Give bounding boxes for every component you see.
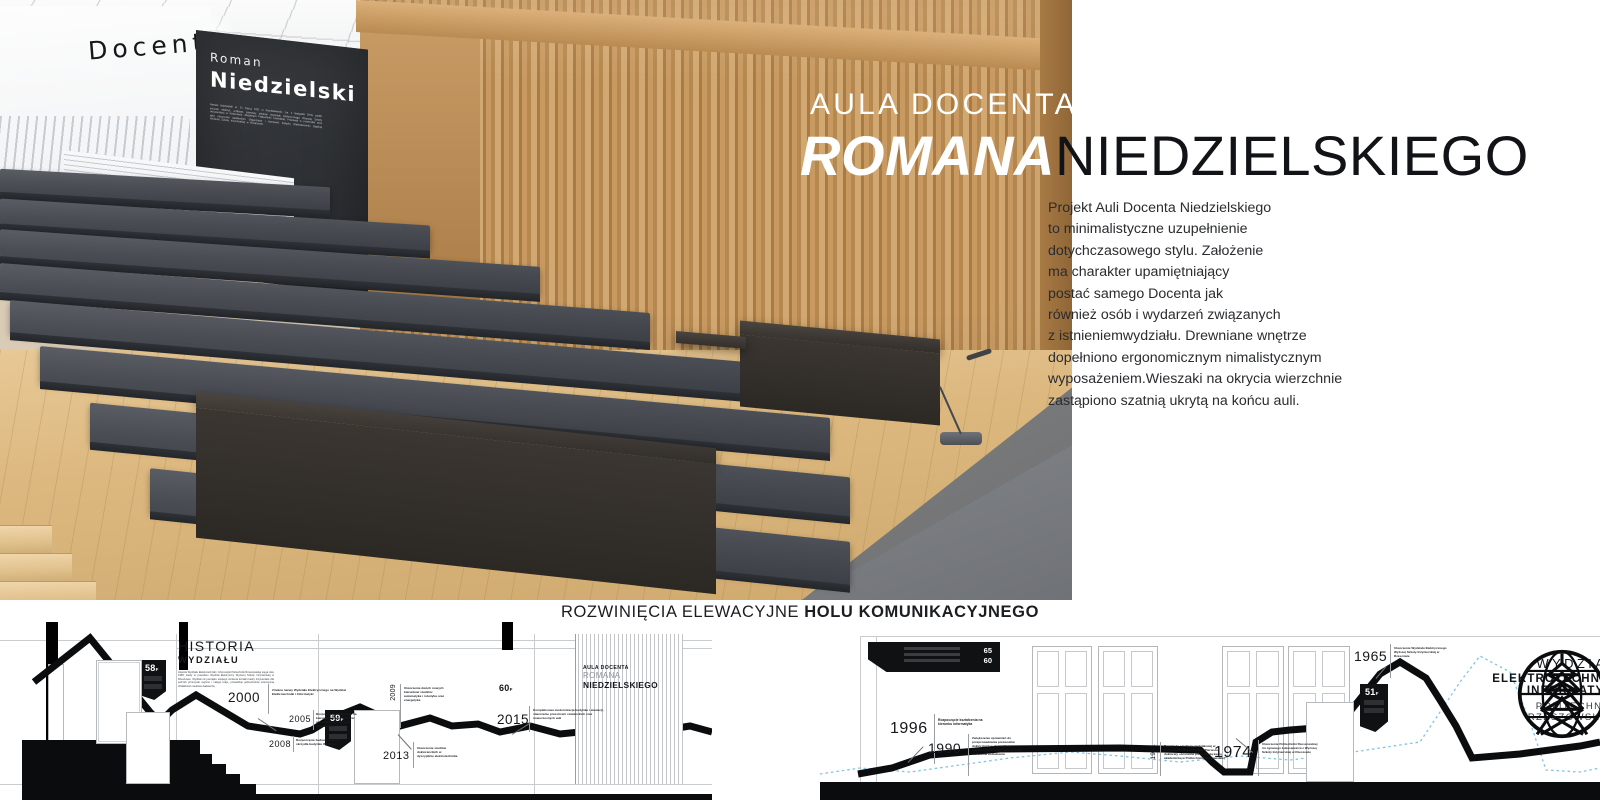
title-romana: ROMANA [800, 124, 1055, 187]
year-label: 2008 [269, 739, 291, 749]
year-label: 2000 [228, 690, 260, 705]
year-note: Rozpoczęcie kształcenia na kierunku Info… [316, 712, 368, 728]
year-label: 1981 [1150, 744, 1157, 760]
title-niedzielskiego: NIEDZIELSKIEGO [1055, 124, 1529, 187]
caption-bold: HOLU KOMUNIKACYJNEGO [804, 603, 1039, 621]
title-eyebrow: AULA DOCENTA [810, 88, 1590, 122]
year-note: Kompleksowa modernizacja budynku i elewa… [533, 708, 611, 720]
description-line: zastąpiono szatnią ukrytą na końcu auli. [1048, 391, 1398, 412]
description-line: dopełniono ergonomicznym nimalistycznym [1048, 348, 1398, 369]
history-block: HISTORIA WYDZIAŁU Historia Wydziału Elek… [178, 638, 318, 688]
description-line: postać samego Docenta jak [1048, 284, 1398, 305]
room-number: 60 [499, 683, 510, 693]
history-paragraph: Historia Wydziału Elektrotechniki i Info… [178, 671, 274, 688]
history-title-light: HISTORIA [178, 638, 318, 654]
section-caption: ROZWINIĘCIA ELEWACYJNE HOLU KOMUNIKACYJN… [0, 603, 1600, 622]
year-note: Utworzenie Politechniki Rzeszowskiej im.… [1262, 742, 1318, 754]
year-note: Rozpoczęcie kształcenia na kierunku info… [938, 718, 996, 727]
description-line: ma charakter upamiętniający [1048, 262, 1398, 283]
left-elevation-drawing: HISTORIA WYDZIAŁU Historia Wydziału Elek… [0, 622, 712, 800]
title-main: ROMANANIEDZIELSKIEGO [800, 128, 1590, 184]
year-note: Utworzenie studiów doktoranckich w dyscy… [417, 746, 459, 758]
room-suffix: F [156, 667, 159, 672]
pylon-globe-icon [1514, 646, 1600, 742]
description-paragraph: Projekt Auli Docenta Niedzielskiego to m… [1048, 198, 1398, 412]
room-number: 58 [145, 663, 156, 673]
description-line: Projekt Auli Docenta Niedzielskiego [1048, 198, 1398, 219]
year-note: Rozpoczęcie budowy nowego skrzydła budyn… [296, 738, 348, 746]
room-sign: 58F [140, 660, 166, 700]
year-note: Zmiana nazwy Wydziału Elektrycznego na W… [272, 688, 350, 696]
aula-sign-line2: ROMANA [583, 671, 658, 680]
aula-wall-sign: AULA DOCENTA ROMANA NIEDZIELSKIEGO [583, 665, 658, 690]
caption-light: ROZWINIĘCIA ELEWACYJNE [561, 603, 799, 621]
history-title-bold: WYDZIAŁU [178, 655, 318, 665]
plaque-biography: Roman Niedzielski ur. 21 marca 1911 w St… [210, 103, 322, 132]
year-note: Zwiększenie uprawnień do przeprowadzania… [972, 736, 1030, 756]
aula-sign-line3: NIEDZIELSKIEGO [583, 680, 658, 690]
presentation-board: Docent Roman Niedzielski Roman Niedziels… [0, 0, 1600, 800]
year-label: 2009 [390, 684, 397, 701]
description-line: to minimalistyczne uzupełnienie [1048, 219, 1398, 240]
year-note: Utworzenie dwóch nowych kierunków studió… [404, 686, 446, 702]
description-line: z istnieniemwydziału. Drewniane wnętrze [1048, 326, 1398, 347]
description-line: dotychczasowego stylu. Założenie [1048, 241, 1398, 262]
year-label: 2005 [289, 714, 311, 724]
title-block: AULA DOCENTA ROMANANIEDZIELSKIEGO [800, 88, 1590, 184]
ground-line [820, 782, 1600, 800]
year-label: 1990 [928, 740, 961, 756]
description-line: również osób i wydarzeń związanych [1048, 305, 1398, 326]
year-label: 2013 [383, 750, 409, 762]
year-label: 1996 [890, 720, 928, 738]
room-suffix: F [510, 687, 513, 692]
right-elevation-drawing: 65 60 [820, 622, 1600, 800]
description-line: wyposażeniem.Wieszaki na okrycia wierzch… [1048, 369, 1398, 390]
door [126, 712, 170, 784]
